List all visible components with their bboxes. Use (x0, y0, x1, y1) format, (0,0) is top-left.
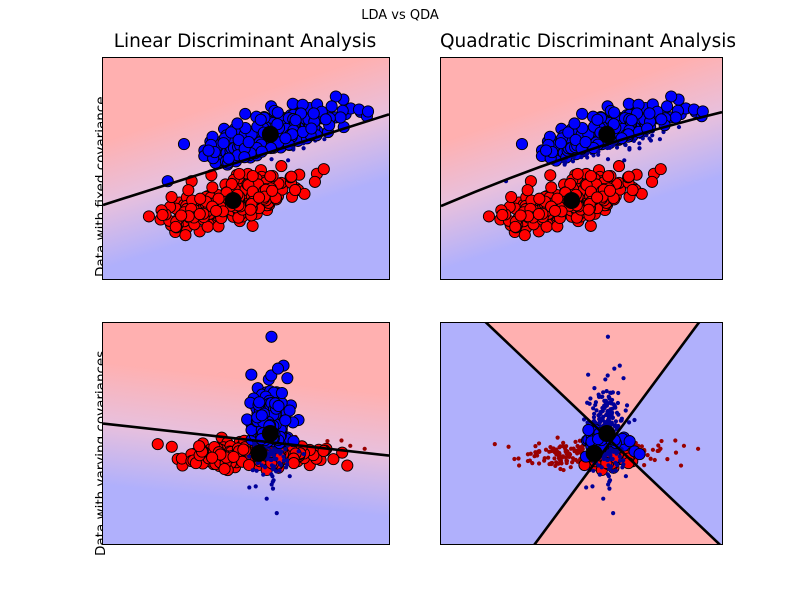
scatter-layer (441, 323, 722, 544)
scatter-point (272, 464, 276, 468)
scatter-point (180, 230, 191, 241)
scatter-point (166, 191, 177, 202)
scatter-point (614, 452, 618, 456)
scatter-point (571, 159, 575, 163)
scatter-point (592, 386, 596, 390)
centroid-class0 (586, 445, 603, 462)
scatter-point (497, 209, 508, 220)
figure-canvas: LDA vs QDA Linear Discriminant Analysis … (0, 0, 800, 600)
scatter-point (614, 461, 618, 465)
scatter-point (607, 474, 611, 478)
scatter-point (559, 461, 563, 465)
scatter-point (302, 452, 306, 456)
scatter-point (543, 456, 547, 460)
scatter-point (649, 457, 653, 461)
scatter-point (510, 221, 521, 232)
scatter-point (598, 420, 602, 424)
plot-panel-lda-varying (102, 322, 390, 545)
scatter-point (170, 221, 181, 232)
scatter-point (607, 480, 611, 484)
scatter-point (545, 170, 556, 181)
scatter-point (656, 114, 667, 125)
scatter-point (616, 401, 620, 405)
scatter-point (261, 473, 265, 477)
scatter-point (195, 193, 206, 204)
scatter-point (598, 473, 602, 477)
scatter-point (653, 458, 657, 462)
scatter-point (272, 107, 283, 118)
scatter-point (263, 465, 267, 469)
scatter-point (613, 161, 624, 172)
scatter-point (285, 462, 289, 466)
scatter-point (286, 158, 290, 162)
scatter-point (194, 208, 205, 219)
scatter-point (255, 114, 266, 125)
scatter-point (540, 145, 551, 156)
scatter-point (642, 463, 646, 467)
scatter-point (297, 449, 301, 453)
plot-panel-qda-varying (440, 322, 723, 545)
scatter-point (608, 413, 612, 417)
scatter-point (600, 406, 604, 410)
scatter-point (247, 170, 258, 181)
scatter-point (590, 484, 594, 488)
centroid-class0 (250, 445, 267, 462)
scatter-point (563, 161, 567, 165)
centroid-class1 (262, 425, 279, 442)
scatter-point (240, 108, 251, 119)
scatter-point (271, 480, 275, 484)
scatter-point (619, 418, 623, 422)
scatter-point (600, 395, 604, 399)
scatter-point (516, 138, 527, 149)
scatter-point (570, 460, 574, 464)
scatter-point (612, 367, 616, 371)
scatter-point (265, 171, 276, 182)
scatter-point (565, 450, 569, 454)
scatter-point (603, 454, 607, 458)
scatter-point (282, 459, 286, 463)
scatter-point (601, 497, 605, 501)
scatter-point (306, 123, 317, 134)
scatter-point (583, 204, 594, 215)
scatter-point (362, 106, 373, 117)
scatter-point (594, 408, 598, 412)
scatter-point (530, 461, 534, 465)
scatter-point (651, 448, 655, 452)
scatter-point (646, 453, 650, 457)
scatter-point (506, 445, 510, 449)
scatter-point (247, 220, 258, 231)
scatter-point (583, 424, 594, 435)
scatter-point (624, 436, 635, 447)
scatter-point (493, 442, 497, 446)
scatter-point (318, 164, 329, 175)
scatter-point (534, 193, 545, 204)
scatter-point (256, 410, 267, 421)
centroid-class1 (598, 425, 615, 442)
scatter-point (608, 391, 612, 395)
scatter-point (577, 447, 581, 451)
scatter-point (632, 418, 636, 422)
scatter-point (564, 444, 568, 448)
scatter-point (288, 457, 299, 468)
scatter-point (634, 448, 645, 459)
scatter-point (245, 204, 256, 215)
scatter-point (194, 441, 205, 452)
scatter-point (606, 157, 610, 161)
scatter-point (644, 108, 655, 119)
scatter-point (247, 485, 251, 489)
scatter-point (679, 463, 683, 467)
scatter-point (658, 137, 662, 141)
scatter-point (554, 452, 558, 456)
scatter-point (223, 153, 234, 164)
scatter-point (609, 107, 620, 118)
scatter-point (586, 373, 590, 377)
scatter-point (682, 444, 686, 448)
scatter-point (655, 164, 666, 175)
scatter-point (558, 467, 562, 471)
scatter-point (238, 444, 249, 455)
scatter-point (287, 98, 298, 109)
scatter-point (673, 438, 677, 442)
scatter-point (585, 170, 596, 181)
scatter-point (637, 141, 641, 145)
scatter-point (618, 459, 622, 463)
scatter-point (618, 455, 622, 459)
scatter-point (143, 211, 154, 222)
scatter-point (322, 137, 326, 141)
scatter-point (606, 373, 610, 377)
scatter-point (650, 133, 654, 137)
scatter-point (522, 185, 533, 196)
scatter-point (609, 464, 613, 468)
scatter-point (572, 168, 583, 179)
scatter-point (696, 447, 700, 451)
scatter-point (659, 439, 663, 443)
scatter-point (565, 461, 569, 465)
scatter-point (203, 145, 214, 156)
scatter-point (483, 211, 494, 222)
scatter-point (622, 158, 626, 162)
scatter-point (269, 458, 273, 462)
scatter-point (573, 440, 577, 444)
scatter-point (272, 363, 283, 374)
scatter-point (348, 444, 352, 448)
scatter-point (556, 436, 560, 440)
scatter-point (289, 184, 300, 195)
scatter-point (278, 452, 282, 456)
scatter-point (613, 404, 617, 408)
scatter-point (677, 125, 681, 129)
scatter-point (276, 161, 287, 172)
scatter-point (572, 449, 576, 453)
scatter-point (207, 182, 218, 193)
scatter-point (591, 469, 595, 473)
scatter-point (569, 465, 573, 469)
scatter-point (606, 335, 610, 339)
scatter-point (183, 185, 194, 196)
scatter-point (274, 457, 278, 461)
scatter-point (533, 444, 537, 448)
scatter-point (282, 373, 293, 384)
scatter-point (519, 230, 530, 241)
scatter-point (253, 192, 264, 203)
scatter-point (320, 114, 331, 125)
scatter-point (670, 112, 681, 123)
scatter-point (554, 460, 558, 464)
scatter-point (267, 454, 271, 458)
scatter-point (553, 464, 557, 468)
plot-panel-lda-fixed (102, 57, 390, 280)
scatter-point (624, 474, 628, 478)
scatter-point (674, 451, 678, 455)
scatter-point (604, 185, 615, 196)
scatter-point (605, 389, 609, 393)
scatter-point (649, 138, 653, 142)
scatter-point (547, 450, 551, 454)
scatter-point (656, 443, 660, 447)
scatter-point (592, 415, 596, 419)
scatter-point (242, 414, 253, 425)
scatter-point (269, 157, 273, 161)
scatter-point (626, 115, 637, 126)
scatter-point (592, 192, 603, 203)
scatter-point (254, 397, 265, 408)
scatter-point (267, 185, 278, 196)
scatter-point (621, 376, 625, 380)
scatter-point (656, 449, 660, 453)
scatter-point (580, 136, 591, 147)
scatter-point (616, 391, 620, 395)
scatter-point (600, 465, 604, 469)
scatter-point (661, 101, 672, 112)
scatter-point (290, 115, 301, 126)
scatter-point (533, 208, 544, 219)
scatter-point (534, 453, 538, 457)
scatter-point (548, 445, 552, 449)
scatter-point (597, 392, 601, 396)
scatter-point (207, 452, 218, 463)
scatter-point (596, 413, 600, 417)
scatter-point (234, 168, 245, 179)
scatter-point (308, 108, 319, 119)
column-title-qda: Quadratic Discriminant Analysis (440, 31, 721, 53)
scatter-point (552, 456, 556, 460)
scatter-point (363, 447, 367, 451)
scatter-point (280, 133, 291, 144)
scatter-point (546, 182, 557, 193)
scatter-point (646, 176, 657, 187)
scatter-point (588, 396, 592, 400)
scatter-point (603, 171, 614, 182)
scatter-point (277, 461, 281, 465)
centroid-class0 (563, 192, 580, 209)
scatter-point (166, 441, 177, 452)
scatter-point (326, 101, 337, 112)
scatter-point (506, 191, 517, 202)
scatter-point (251, 468, 255, 472)
scatter-point (280, 415, 291, 426)
scatter-point (283, 447, 287, 451)
scatter-point (623, 171, 634, 182)
scatter-point (270, 474, 274, 478)
scatter-point (512, 457, 516, 461)
scatter-point (537, 461, 541, 465)
plot-panel-qda-fixed (440, 57, 723, 280)
scatter-point (549, 462, 553, 466)
scatter-point (328, 454, 339, 465)
centroid-class1 (598, 126, 615, 143)
scatter-point (157, 209, 168, 220)
scatter-point (537, 441, 541, 445)
scatter-point (611, 511, 615, 515)
scatter-point (621, 462, 625, 466)
scatter-point (243, 136, 254, 147)
scatter-point (614, 419, 618, 423)
scatter-point (637, 146, 641, 150)
scatter-point (517, 463, 521, 467)
scatter-point (555, 138, 566, 149)
scatter-point (516, 456, 520, 460)
scatter-point (584, 485, 588, 489)
centroid-class1 (262, 126, 279, 143)
scatter-point (526, 452, 530, 456)
scatter-point (549, 205, 560, 216)
scatter-point (339, 438, 343, 442)
scatter-point (567, 455, 571, 459)
scatter-point (266, 331, 277, 342)
figure-suptitle: LDA vs QDA (0, 8, 800, 24)
scatter-point (275, 511, 279, 515)
scatter-point (273, 400, 284, 411)
scatter-point (218, 138, 229, 149)
scatter-point (603, 377, 607, 381)
decision-boundary (441, 323, 722, 544)
scatter-point (607, 395, 611, 399)
scatter-point (291, 146, 295, 150)
scatter-point (594, 400, 598, 404)
scatter-point (618, 364, 622, 368)
scatter-point (335, 112, 346, 123)
scatter-point (546, 456, 550, 460)
scatter-point (276, 387, 287, 398)
scatter-point (627, 184, 638, 195)
scatter-point (616, 413, 620, 417)
scatter-point (325, 439, 329, 443)
scatter-point (515, 210, 526, 221)
scatter-point (665, 457, 669, 461)
scatter-point (254, 484, 258, 488)
scatter-point (152, 439, 163, 450)
scatter-point (592, 114, 603, 125)
scatter-point (579, 155, 583, 159)
scatter-point (605, 458, 609, 462)
scatter-point (625, 403, 629, 407)
scatter-point (342, 460, 353, 471)
scatter-point (561, 441, 565, 445)
scatter-point (265, 497, 269, 501)
scatter-point (246, 369, 257, 380)
decision-boundary (441, 323, 722, 544)
scatter-point (302, 146, 306, 150)
scatter-layer (103, 323, 389, 544)
scatter-point (178, 138, 189, 149)
scatter-point (536, 449, 540, 453)
scatter-point (271, 487, 275, 491)
scatter-layer (103, 58, 389, 279)
scatter-point (211, 205, 222, 216)
scatter-point (232, 118, 243, 129)
scatter-point (277, 469, 281, 473)
scatter-point (615, 145, 619, 149)
scatter-point (585, 220, 596, 231)
scatter-point (607, 487, 611, 491)
scatter-point (627, 146, 631, 150)
scatter-point (228, 451, 239, 462)
centroid-class0 (225, 192, 242, 209)
scatter-point (577, 108, 588, 119)
scatter-point (309, 176, 320, 187)
scatter-point (176, 210, 187, 221)
scatter-point (255, 469, 259, 473)
scatter-point (614, 469, 618, 473)
scatter-point (606, 401, 610, 405)
scatter-point (585, 401, 589, 405)
scatter-point (560, 455, 564, 459)
column-title-lda: Linear Discriminant Analysis (102, 31, 388, 53)
scatter-point (611, 457, 615, 461)
scatter-point (569, 118, 580, 129)
scatter-point (596, 150, 600, 154)
scatter-layer (441, 58, 722, 279)
scatter-point (281, 455, 285, 459)
scatter-point (288, 474, 292, 478)
scatter-point (605, 146, 609, 150)
scatter-point (286, 171, 297, 182)
scatter-point (624, 408, 628, 412)
scatter-point (219, 463, 230, 474)
